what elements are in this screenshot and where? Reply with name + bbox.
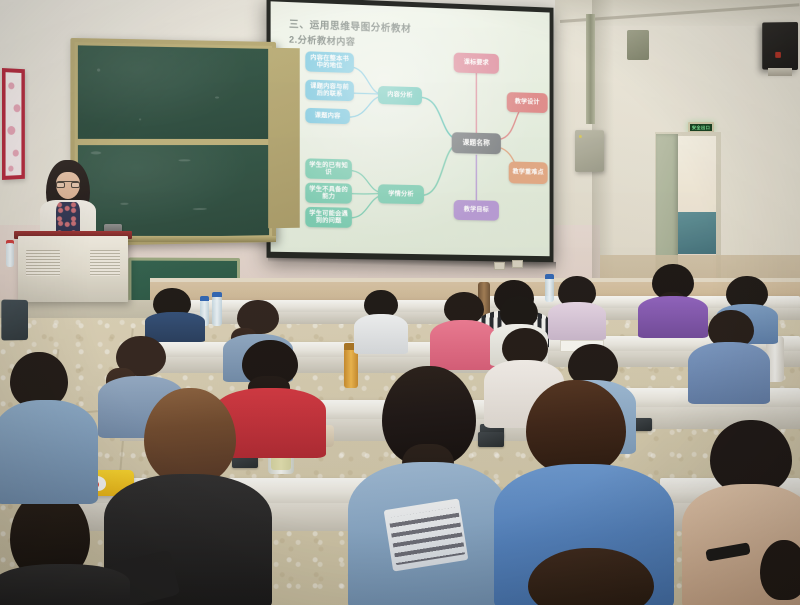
mindmap-node-key-difficulty: 教学重难点 <box>509 161 548 184</box>
student-denim-right <box>690 310 768 400</box>
mindmap-node-learner-analysis: 学情分析 <box>378 184 424 204</box>
wall-junction-box <box>627 30 649 60</box>
student-black-top-front <box>110 388 260 605</box>
student-denim-left-front <box>0 352 96 502</box>
electrical-box-indicator <box>579 135 582 138</box>
mindmap-node-content-analysis: 内容分析 <box>378 86 422 105</box>
mindmap-node-center: 课题名称 <box>452 132 501 154</box>
wall-speaker <box>762 22 798 70</box>
classroom-photo-scene: 三、运用思维导图分析教材 2.分析教材内容 <box>0 0 800 605</box>
chalkboard <box>70 38 276 246</box>
side-chair <box>1 299 28 340</box>
wall-poster <box>2 68 25 180</box>
mindmap-node-content-child-2: 课题内容与前后的联系 <box>305 80 354 102</box>
eyeglasses-icon <box>56 181 80 188</box>
student-bottom-center <box>520 548 670 605</box>
student-back-center <box>145 288 205 338</box>
chalkboard-panel-top <box>75 42 272 142</box>
mindmap-node-learner-child-1: 学生的已有知识 <box>305 158 352 179</box>
wall-outlet-2 <box>512 260 523 268</box>
electrical-box <box>575 130 604 172</box>
speaker-logo <box>775 52 781 58</box>
exit-sign-text: 安全出口 <box>692 125 710 131</box>
water-bottle-cap <box>212 292 222 297</box>
student-white-shirt <box>354 290 408 352</box>
mindmap-node-learner-child-2: 学生不具备的能力 <box>305 183 352 204</box>
student-right-edge <box>760 540 800 605</box>
hallway-object <box>672 212 716 254</box>
lectern <box>18 236 128 302</box>
mindmap-node-teaching-objective: 教学目标 <box>454 200 499 221</box>
chalkboard-frame <box>70 38 276 246</box>
mindmap-node-content-child-1: 内容在整本书中的地位 <box>305 51 354 73</box>
student-denim-vest-front <box>352 366 502 605</box>
wall-pipe <box>586 14 595 124</box>
podium-water-bottle <box>6 243 14 267</box>
slide-surface: 三、运用思维导图分析教材 2.分析教材内容 <box>271 1 550 256</box>
projection-screen: 三、运用思维导图分析教材 2.分析教材内容 <box>267 0 554 262</box>
mindmap-node-content-child-3: 课题内容 <box>305 108 350 124</box>
mindmap-node-learner-child-3: 学生可能会遇到的问题 <box>305 207 352 228</box>
speaker-bracket <box>768 68 792 76</box>
mindmap-node-curriculum-standard: 课标要求 <box>454 52 499 73</box>
wall-outlet-1 <box>494 262 505 270</box>
water-bottle <box>212 296 222 326</box>
mindmap-node-teaching-design: 教学设计 <box>507 92 548 113</box>
chalkboard-right-panel <box>268 48 300 229</box>
